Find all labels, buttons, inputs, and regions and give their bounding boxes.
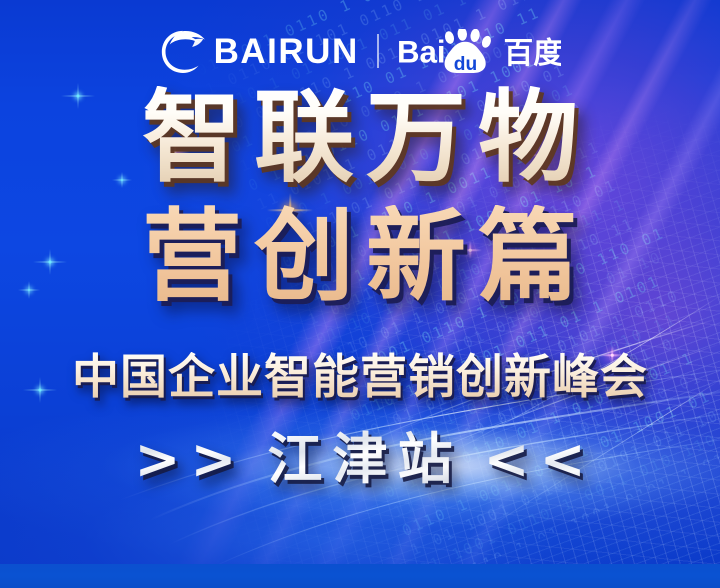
logo-separator bbox=[377, 34, 379, 68]
subtitle: 中国企业智能营销创新峰会 bbox=[0, 352, 720, 404]
bairun-eagle-c-icon bbox=[159, 29, 205, 73]
headline-line-2: 营创新篇 bbox=[0, 205, 720, 309]
baidu-logo[interactable]: Bai du 百度 bbox=[397, 29, 562, 73]
station-line: >> 江津站 << bbox=[0, 428, 720, 490]
logo-bar: BAIRUN Bai du bbox=[0, 24, 720, 78]
headline-line-1: 智联万物 bbox=[0, 86, 720, 190]
baidu-logo-svg: Bai du 百度 bbox=[397, 29, 562, 73]
station-city-name: 江津站 bbox=[253, 428, 466, 490]
svg-text:du: du bbox=[454, 54, 477, 73]
svg-text:百度: 百度 bbox=[503, 36, 561, 71]
promotional-banner: 01 1001 0110 1 0011 010 110 011 0110 01 … bbox=[0, 0, 720, 588]
chevron-right-icon: << bbox=[474, 428, 596, 490]
chevron-left-icon: >> bbox=[124, 428, 246, 490]
svg-text:Bai: Bai bbox=[397, 34, 446, 69]
bairun-wordmark: BAIRUN bbox=[214, 34, 359, 69]
bairun-logo[interactable]: BAIRUN bbox=[159, 29, 359, 73]
